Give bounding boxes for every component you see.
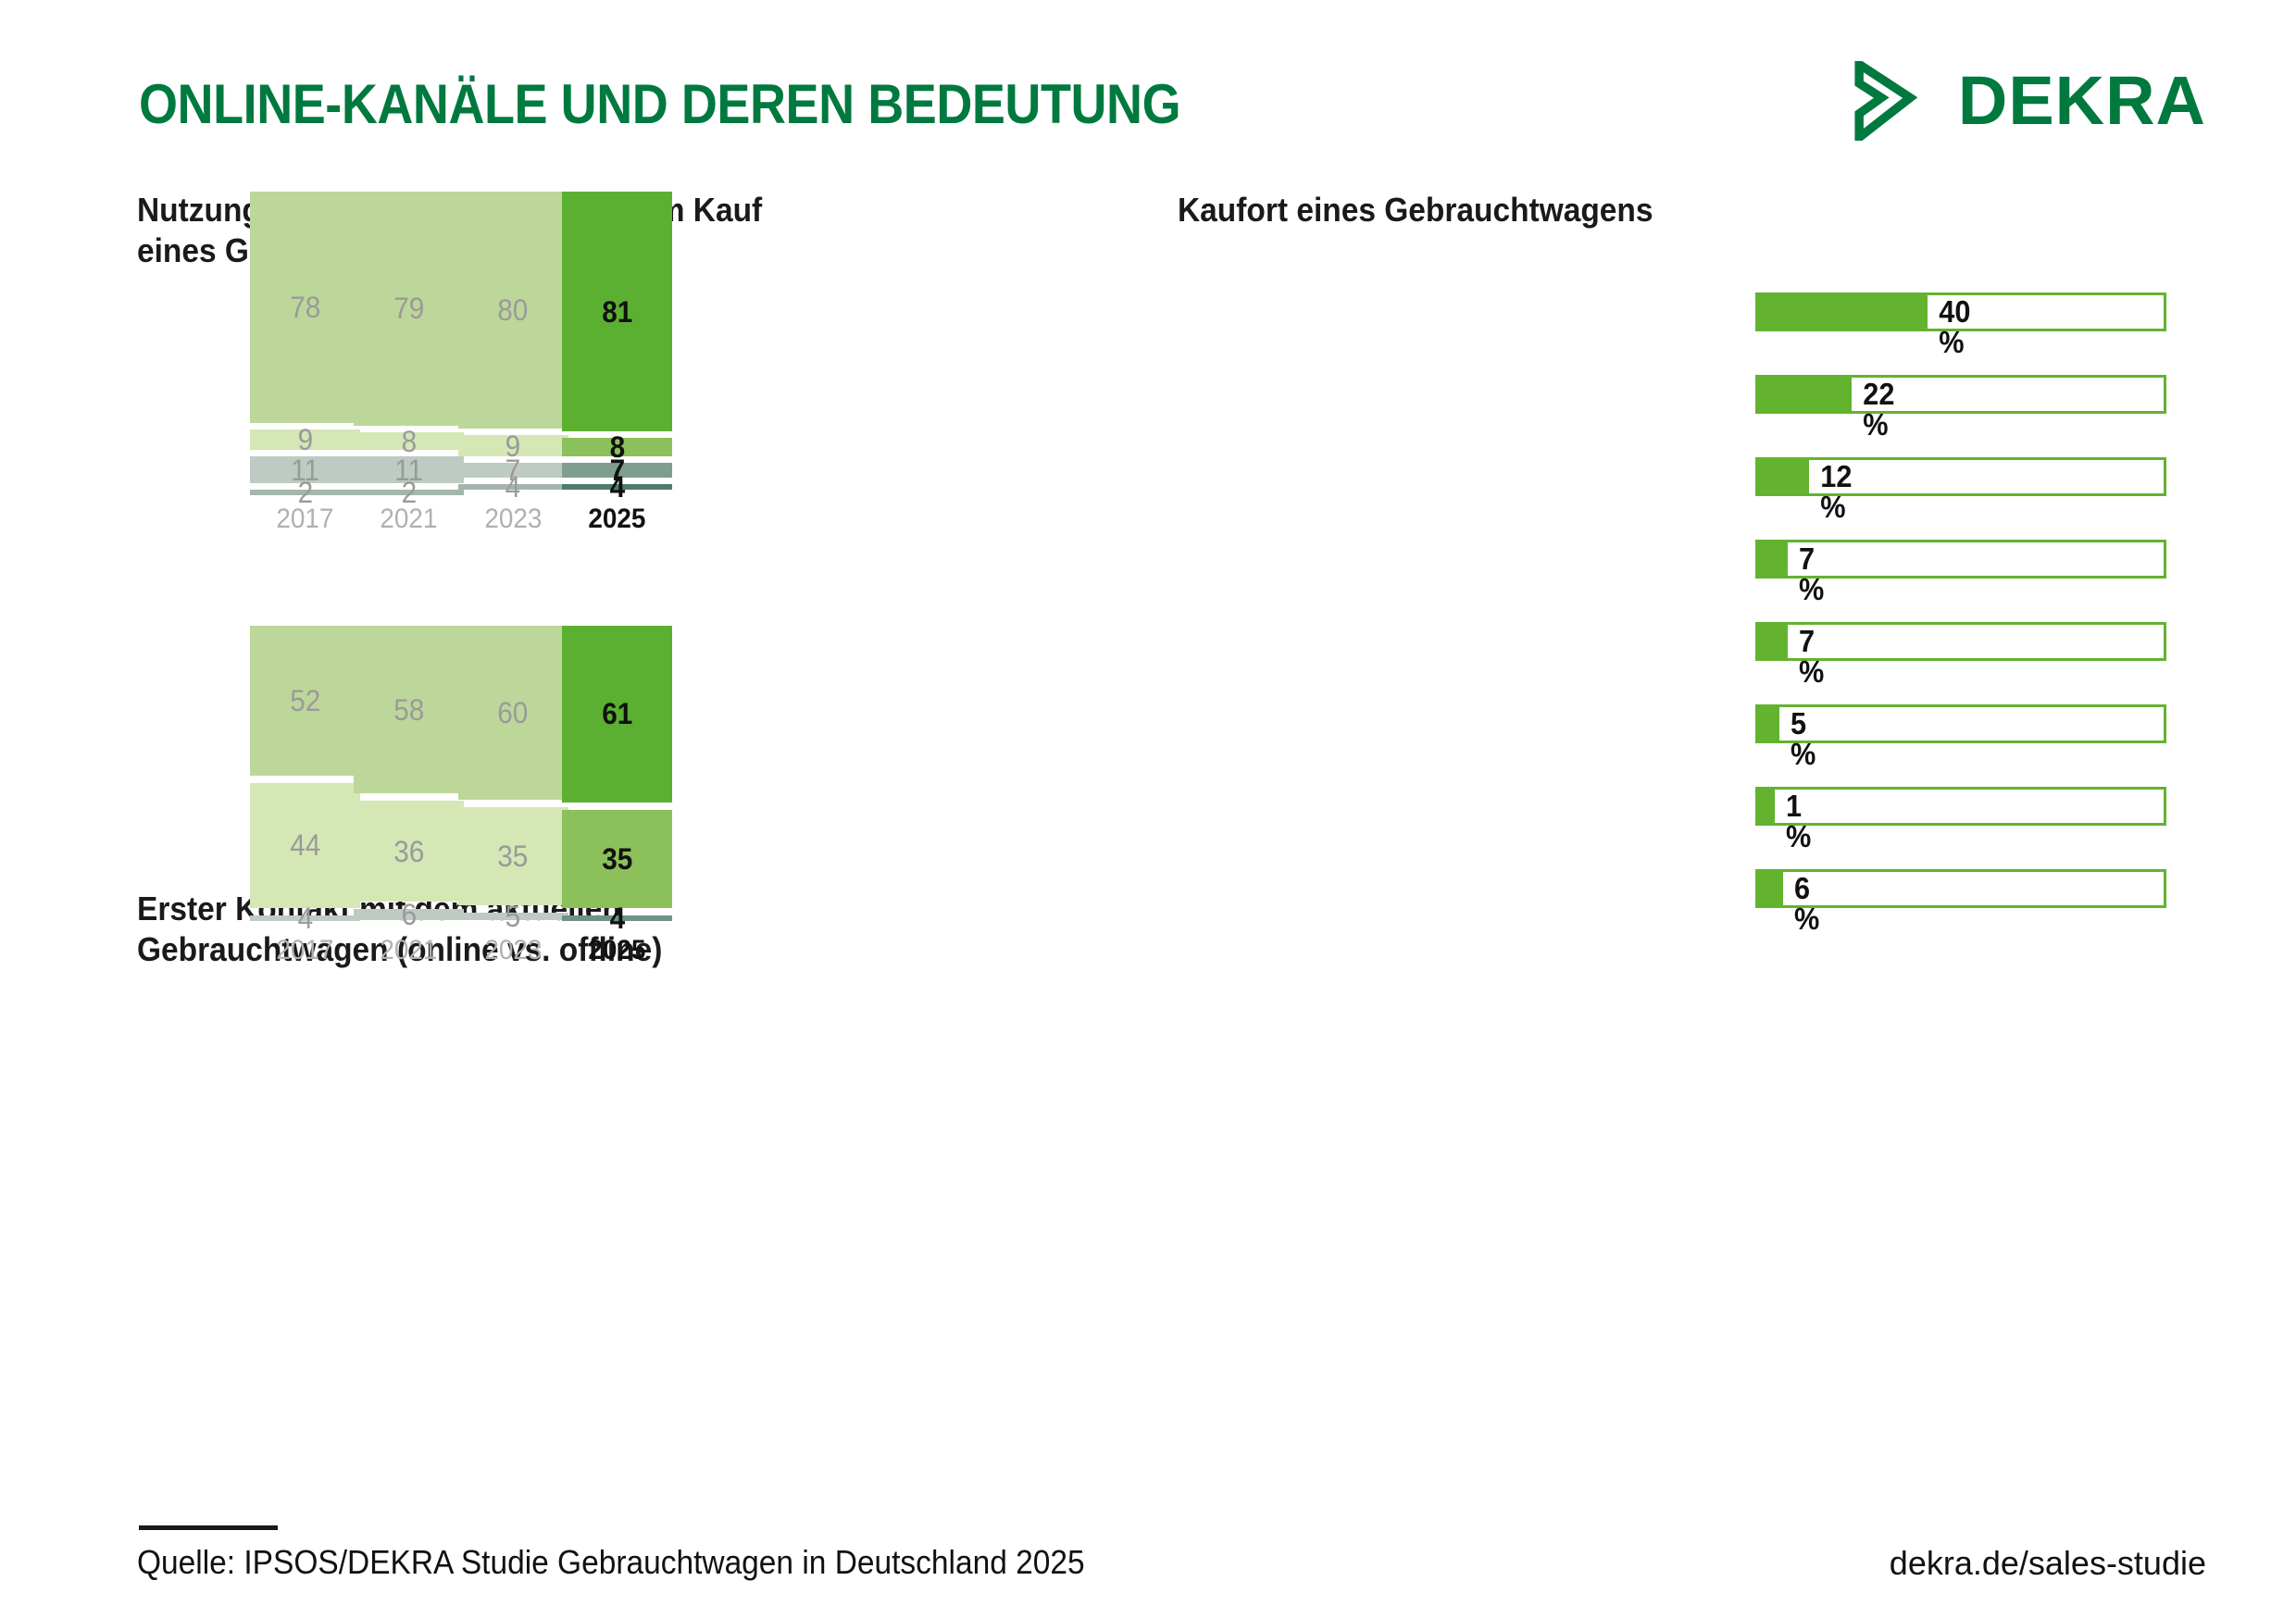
segment-wei-nicht-keine-angabe-2025: 4	[562, 484, 672, 490]
dekra-arrow-icon	[1854, 61, 1934, 141]
segment-nein-aber-vorstellbar-2017: 9	[250, 429, 360, 451]
bar-track-2	[1755, 457, 2166, 496]
dekra-logo: DEKRA	[1854, 61, 2206, 141]
page-title: ONLINE-KANÄLE UND DEREN BEDEUTUNG	[139, 72, 1180, 136]
segment-wei-nicht-keine-angabe-2021: 6	[354, 909, 464, 920]
bar-fill-7	[1758, 872, 1783, 905]
column-2025: 61354	[562, 626, 672, 927]
x-tick-2017: 2017	[250, 505, 360, 533]
x-tick-2025: 2025	[562, 937, 672, 965]
chart2-title: Kaufort eines Gebrauchtwagens	[1178, 190, 1653, 230]
segment-wei-nicht-keine-angabe-2023: 4	[458, 484, 568, 490]
bar-fill-2	[1758, 460, 1809, 493]
segment-ja-2021: 79	[354, 192, 464, 426]
footer-divider	[139, 1525, 278, 1530]
segment-via-internet-2021: 58	[354, 626, 464, 793]
column-2017: 789112	[250, 192, 360, 496]
bar-fill-0	[1758, 295, 1928, 329]
x-tick-2025: 2025	[562, 505, 672, 533]
segment-ja-2023: 80	[458, 192, 568, 429]
bar-fill-1	[1758, 378, 1852, 411]
column-2023: 80974	[458, 192, 568, 496]
segment-nicht-via-internet-2017: 44	[250, 783, 360, 908]
bar-fill-5	[1758, 707, 1779, 741]
segment-wei-nicht-keine-angabe-2017: 4	[250, 915, 360, 921]
bar-value-5: 5 %	[1790, 708, 1816, 769]
segment-via-internet-2017: 52	[250, 626, 360, 776]
x-tick-2023: 2023	[458, 937, 568, 965]
bar-value-0: 40 %	[1938, 296, 1972, 357]
segment-nein-aber-vorstellbar-2021: 8	[354, 432, 464, 450]
segment-wei-nicht-keine-angabe-2023: 5	[458, 913, 568, 920]
segment-ja-2017: 78	[250, 192, 360, 423]
bar-value-2: 12 %	[1819, 461, 1853, 522]
column-2021: 798112	[354, 192, 464, 496]
bar-value-3: 7 %	[1798, 543, 1825, 604]
column-2017: 52444	[250, 626, 360, 927]
column-2025: 81874	[562, 192, 672, 496]
bar-value-4: 7 %	[1798, 626, 1825, 687]
bar-track-1	[1755, 375, 2166, 414]
x-tick-2021: 2021	[354, 937, 464, 965]
x-tick-2023: 2023	[458, 505, 568, 533]
bar-track-5	[1755, 704, 2166, 743]
bar-value-1: 22 %	[1862, 379, 1896, 440]
site-url: dekra.de/sales-studie	[1890, 1544, 2206, 1583]
source-note: Quelle: IPSOS/DEKRA Studie Gebrauchtwage…	[137, 1543, 1085, 1582]
bar-value-7: 6 %	[1793, 873, 1820, 934]
bar-fill-3	[1758, 542, 1788, 576]
segment-wei-nicht-keine-angabe-2025: 4	[562, 915, 672, 921]
column-2023: 60355	[458, 626, 568, 927]
segment-via-internet-2025: 61	[562, 626, 672, 803]
segment-wei-nicht-keine-angabe-2021: 2	[354, 490, 464, 495]
segment-nicht-via-internet-2025: 35	[562, 810, 672, 908]
column-2021: 58366	[354, 626, 464, 927]
x-tick-2021: 2021	[354, 505, 464, 533]
segment-nicht-via-internet-2023: 35	[458, 807, 568, 905]
bar-fill-4	[1758, 625, 1788, 658]
bar-fill-6	[1758, 790, 1775, 823]
segment-wei-nicht-keine-angabe-2017: 2	[250, 490, 360, 495]
x-tick-2017: 2017	[250, 937, 360, 965]
bar-track-6	[1755, 787, 2166, 826]
segment-via-internet-2023: 60	[458, 626, 568, 800]
bar-value-6: 1 %	[1785, 790, 1812, 852]
dekra-wordmark: DEKRA	[1958, 67, 2206, 135]
segment-nicht-via-internet-2021: 36	[354, 801, 464, 902]
segment-ja-2025: 81	[562, 192, 672, 431]
